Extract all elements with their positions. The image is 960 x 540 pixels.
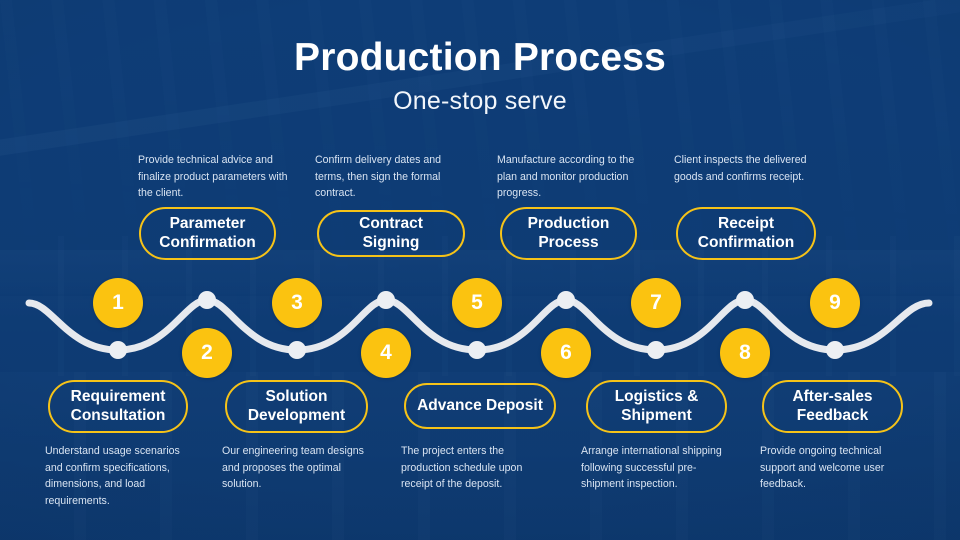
bottom-description-4: Arrange international shipping following…	[581, 443, 739, 493]
timeline-dot-5	[468, 341, 486, 359]
pill-label-line-2: Consultation	[71, 407, 166, 424]
step-pill-requirement-consultation[interactable]: Requirement Consultation	[48, 380, 188, 433]
pill-label-line-1: Parameter	[170, 215, 246, 232]
pill-label: Production Process	[528, 215, 610, 253]
timeline-dot-2	[198, 291, 216, 309]
timeline-dot-6	[557, 291, 575, 309]
infographic-canvas: Production Process One-stop serve Provid…	[0, 0, 960, 540]
pill-label: Logistics & Shipment	[615, 388, 699, 426]
step-pill-logistics-shipment[interactable]: Logistics & Shipment	[586, 380, 727, 433]
bottom-description-1: Understand usage scenarios and confirm s…	[45, 443, 197, 510]
pill-label-line-2: Confirmation	[698, 234, 794, 251]
timeline-dot-4	[377, 291, 395, 309]
pill-label-line-2: Development	[248, 407, 345, 424]
pill-label: Solution Development	[248, 388, 345, 426]
pill-label-line-1: Requirement	[71, 388, 166, 405]
step-pill-after-sales-feedback[interactable]: After-sales Feedback	[762, 380, 903, 433]
top-description-2: Confirm delivery dates and terms, then s…	[315, 152, 465, 202]
pill-label-line-2: Shipment	[621, 407, 692, 424]
timeline-dot-3	[288, 341, 306, 359]
pill-label-line-1: Production	[528, 215, 610, 232]
step-pill-receipt-confirmation[interactable]: Receipt Confirmation	[676, 207, 816, 260]
step-marker-2[interactable]: 2	[182, 328, 232, 378]
step-marker-9[interactable]: 9	[810, 278, 860, 328]
pill-label-line-2: Confirmation	[159, 234, 255, 251]
top-description-3: Manufacture according to the plan and mo…	[497, 152, 652, 202]
step-pill-solution-development[interactable]: Solution Development	[225, 380, 368, 433]
top-description-1: Provide technical advice and finalize pr…	[138, 152, 288, 202]
page-title: Production Process	[0, 38, 960, 79]
pill-label: Advance Deposit	[417, 397, 543, 416]
timeline-dot-9	[826, 341, 844, 359]
step-marker-5[interactable]: 5	[452, 278, 502, 328]
step-marker-1[interactable]: 1	[93, 278, 143, 328]
pill-label: Requirement Consultation	[71, 388, 166, 426]
step-marker-7[interactable]: 7	[631, 278, 681, 328]
step-pill-production-process[interactable]: Production Process	[500, 207, 637, 260]
pill-label-line-1: Receipt	[718, 215, 774, 232]
pill-label: Contract Signing	[329, 215, 453, 253]
step-marker-3[interactable]: 3	[272, 278, 322, 328]
step-marker-6[interactable]: 6	[541, 328, 591, 378]
timeline-dot-8	[736, 291, 754, 309]
pill-label: Parameter Confirmation	[159, 215, 255, 253]
pill-label-line-1: After-sales	[792, 388, 872, 405]
header: Production Process One-stop serve	[0, 38, 960, 116]
pill-label-line-2: Feedback	[797, 407, 869, 424]
step-marker-8[interactable]: 8	[720, 328, 770, 378]
timeline-dot-1	[109, 341, 127, 359]
pill-label-line-1: Logistics &	[615, 388, 699, 405]
step-pill-contract-signing[interactable]: Contract Signing	[317, 210, 465, 257]
bottom-description-5: Provide ongoing technical support and we…	[760, 443, 908, 493]
step-pill-parameter-confirmation[interactable]: Parameter Confirmation	[139, 207, 276, 260]
pill-label: After-sales Feedback	[792, 388, 872, 426]
timeline-dot-7	[647, 341, 665, 359]
step-pill-advance-deposit[interactable]: Advance Deposit	[404, 383, 556, 429]
process-timeline: 1 2 3 4 5 6 7 8 9	[0, 270, 960, 385]
pill-label-line-1: Solution	[266, 388, 328, 405]
bottom-description-3: The project enters the production schedu…	[401, 443, 551, 493]
bottom-description-2: Our engineering team designs and propose…	[222, 443, 374, 493]
top-description-4: Client inspects the delivered goods and …	[674, 152, 826, 185]
pill-label: Receipt Confirmation	[698, 215, 794, 253]
step-marker-4[interactable]: 4	[361, 328, 411, 378]
page-subtitle: One-stop serve	[0, 87, 960, 116]
pill-label-line-2: Process	[538, 234, 598, 251]
